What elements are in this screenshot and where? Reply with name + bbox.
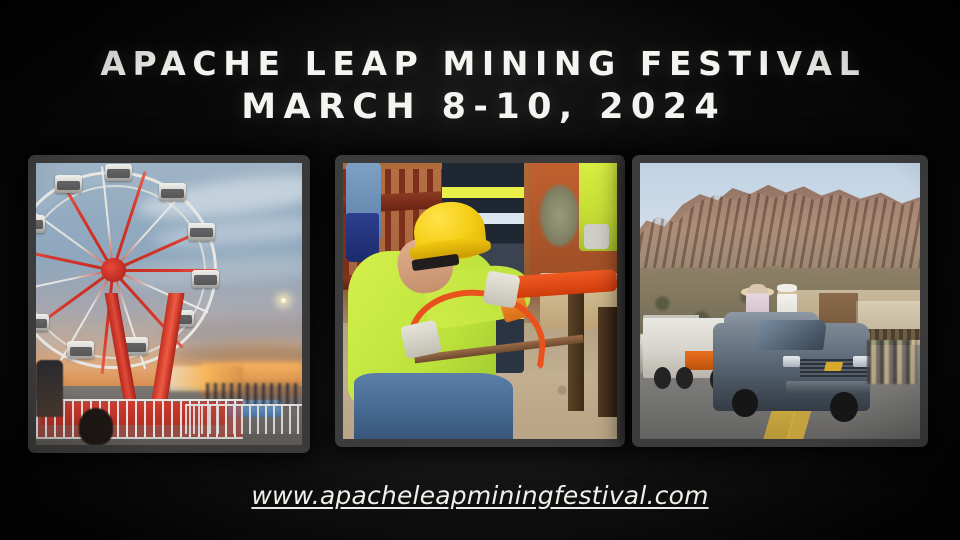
ferris-wheel-photo [28, 155, 310, 453]
wheel-gondola [105, 164, 132, 182]
dump-truck-wheel [654, 367, 671, 389]
website-url-row: www.apacheleapminingfestival.com [0, 481, 960, 510]
wheel-gondola [55, 175, 82, 193]
pickup-headlight [783, 356, 800, 367]
pickup-wheel [732, 389, 757, 417]
wheel-hub [101, 258, 126, 282]
second-official-glove [584, 224, 609, 249]
sawyer-jeans [354, 373, 513, 439]
photo-strip [0, 0, 960, 540]
fairgoer-head [79, 408, 114, 445]
wheel-gondola [192, 270, 219, 288]
parade-photo [632, 155, 928, 447]
pickup-windshield [756, 320, 827, 350]
wheel-gondola [67, 341, 94, 359]
bench-post [568, 290, 584, 411]
festival-poster: APACHE LEAP MINING FESTIVAL MARCH 8-10, … [0, 0, 960, 540]
bench-post [598, 307, 617, 417]
chevrolet-emblem-icon [824, 362, 843, 371]
sawing-image [343, 163, 617, 439]
wheel-gondola [188, 223, 215, 241]
wheel-gondola [36, 314, 49, 332]
shrub [540, 185, 578, 246]
wheel-gondola [159, 183, 186, 201]
sawyer-glove-upper [483, 271, 521, 309]
ferris-wheel [36, 171, 217, 368]
ferris-wheel-image [36, 163, 302, 445]
pickup-bumper [786, 381, 870, 395]
ball-cap [777, 284, 797, 291]
safety-fence [185, 404, 302, 434]
website-link[interactable]: www.apacheleapminingfestival.com [251, 481, 708, 510]
spectators [867, 340, 917, 384]
hand-sawing-contest-photo [335, 155, 625, 447]
fairgoer [36, 360, 63, 416]
wheel-gondola [36, 215, 45, 233]
parade-image [640, 163, 920, 439]
